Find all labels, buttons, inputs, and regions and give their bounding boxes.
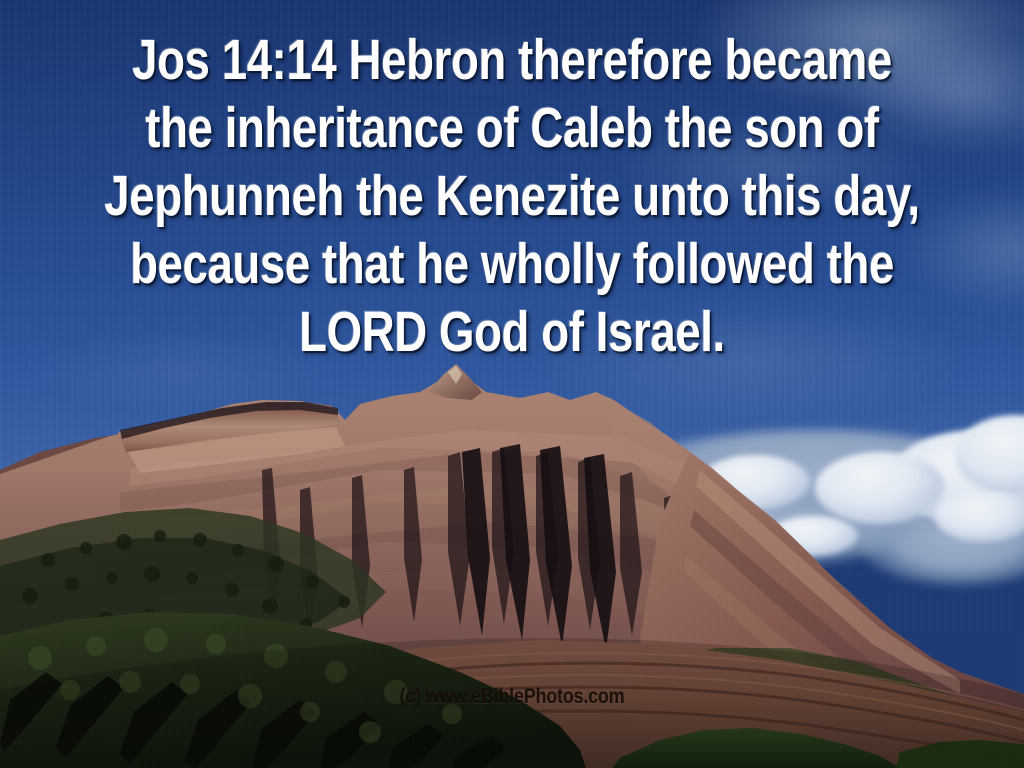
mountain-landscape — [0, 0, 1024, 768]
scripture-photo-canvas: Jos 14:14 Hebron therefore became the in… — [0, 0, 1024, 768]
